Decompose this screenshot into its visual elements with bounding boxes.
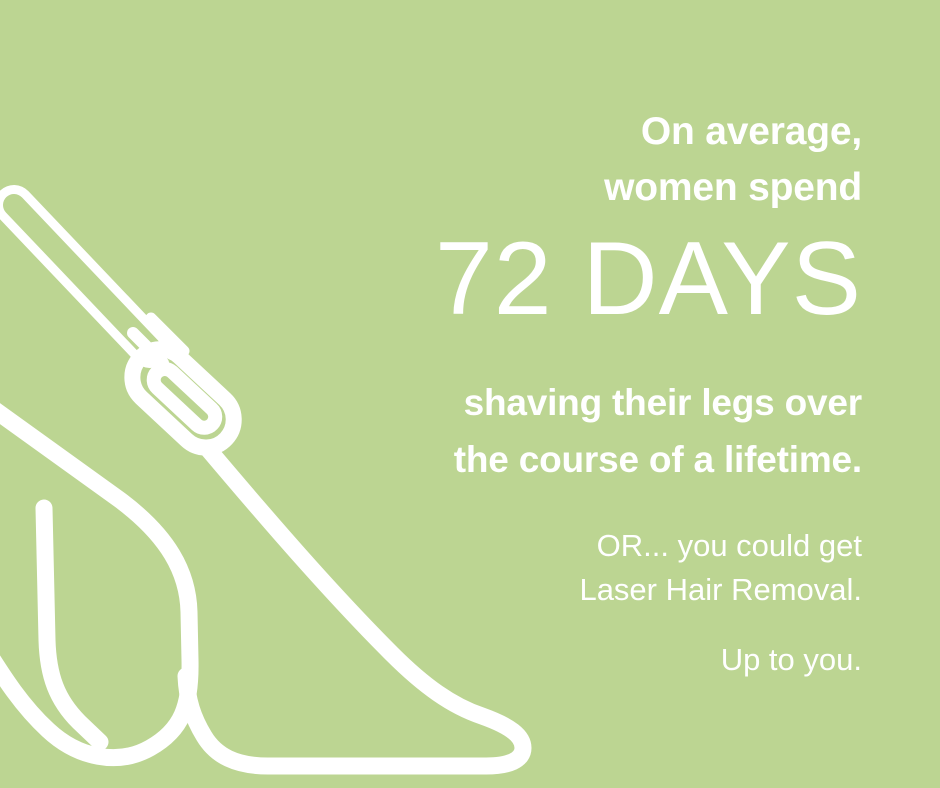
closer-line-1: Up to you. — [302, 638, 862, 682]
headline-block: On average, women spend — [302, 104, 862, 216]
alternative-line-1: OR... you could get — [302, 524, 862, 568]
headline-line-1: On average, — [302, 104, 862, 160]
subhead-line-1: shaving their legs over — [302, 374, 862, 431]
subhead-line-2: the course of a lifetime. — [302, 431, 862, 488]
alternative-block: OR... you could get Laser Hair Removal. — [302, 524, 862, 612]
poster-copy: On average, women spend 72 DAYS shaving … — [302, 0, 862, 788]
stat-value: 72 DAYS — [302, 224, 862, 334]
subhead-block: shaving their legs over the course of a … — [302, 374, 862, 488]
headline-line-2: women spend — [302, 160, 862, 216]
closer-block: Up to you. — [302, 638, 862, 682]
alternative-line-2: Laser Hair Removal. — [302, 568, 862, 612]
razor-shape — [14, 205, 245, 459]
promo-poster: On average, women spend 72 DAYS shaving … — [0, 0, 940, 788]
back-leg-shape — [0, 392, 190, 758]
